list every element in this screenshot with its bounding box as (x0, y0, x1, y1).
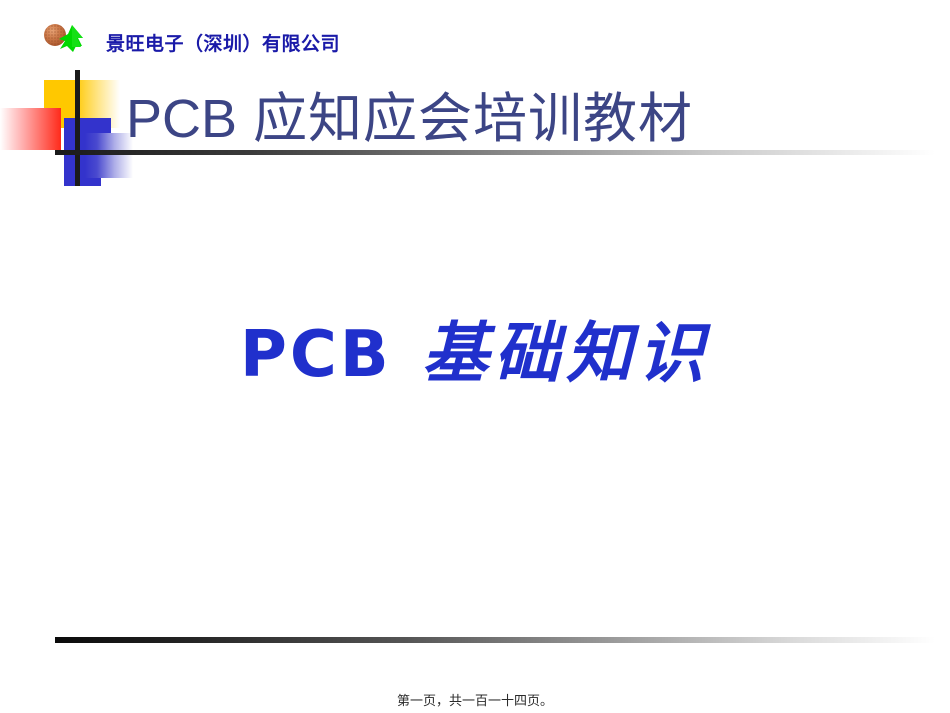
decor-red-block (0, 108, 61, 150)
deck-title: PCB 应知应会培训教材 (126, 74, 693, 153)
footer-divider-rule (55, 637, 935, 643)
company-logo (42, 22, 98, 54)
decor-vertical-rule (75, 70, 80, 186)
company-name: 景旺电子（深圳）有限公司 (106, 29, 340, 56)
jingwang-logo-icon (42, 22, 98, 54)
main-title-cjk: 基础知识 (422, 315, 710, 392)
slide-canvas: 景旺电子（深圳）有限公司 PCB 应知应会培训教材 PCB 基础知识 第一页，共… (0, 0, 950, 713)
deck-title-cjk: 应知应会培训教材 (253, 87, 693, 150)
slide-main-title: PCB 基础知识 (0, 300, 950, 396)
page-number-note: 第一页，共一百一十四页。 (0, 690, 950, 709)
main-title-latin: PCB (240, 318, 392, 392)
deck-title-latin: PCB (126, 89, 237, 149)
